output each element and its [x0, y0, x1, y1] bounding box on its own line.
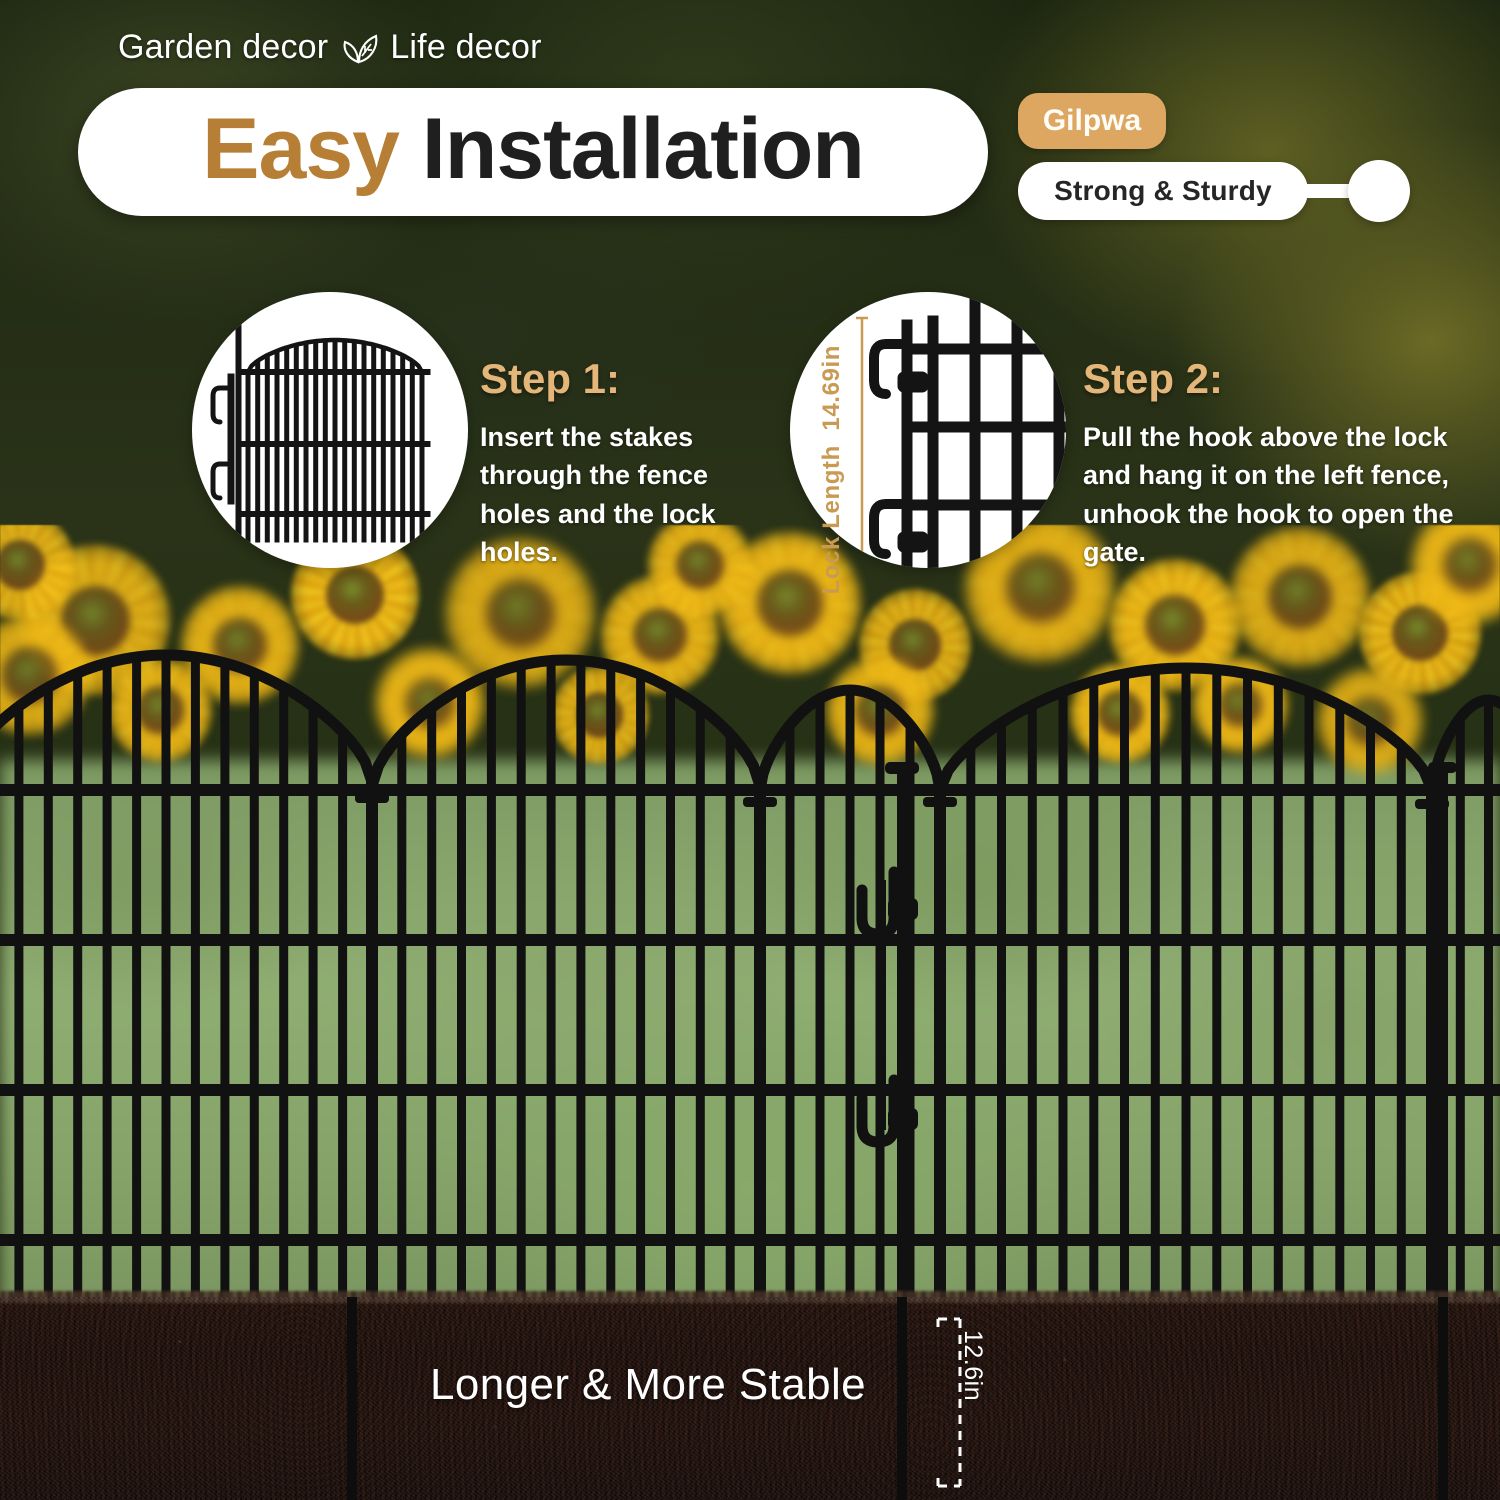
fence-panel-with-stake-icon — [192, 292, 468, 568]
page-title: Easy Installation — [202, 106, 864, 192]
buried-depth-label: 12.6in — [958, 1330, 987, 1401]
sprout-leaf-icon — [338, 31, 380, 65]
main-title-pill: Easy Installation — [78, 88, 988, 216]
lock-length-value: 14.69in — [818, 345, 845, 431]
step-1-diagram — [192, 292, 468, 568]
bottom-caption: Longer & More Stable — [430, 1360, 866, 1410]
step-2-body: Pull the hook above the lock and hang it… — [1083, 418, 1483, 571]
feature-badge: Strong & Sturdy — [1018, 162, 1308, 220]
fence-stake — [897, 1297, 907, 1500]
lock-length-label: Lock Length — [818, 445, 845, 594]
lock-length-dimension: Lock Length 14.69in — [818, 345, 846, 594]
product-infographic: Garden decor Life decor Easy Installatio… — [0, 0, 1500, 1500]
garden-fence-panel-icon — [0, 0, 1500, 1500]
step-1-body: Insert the stakes through the fence hole… — [480, 418, 748, 571]
tagline-life-decor: Life decor — [390, 28, 541, 67]
step-1-heading: Step 1: — [480, 358, 748, 400]
title-rest-word: Installation — [399, 101, 864, 197]
brand-badge: Gilpwa — [1018, 93, 1166, 149]
fence-stake — [347, 1297, 357, 1500]
title-accent-word: Easy — [202, 101, 399, 197]
step-2-text-block: Step 2: Pull the hook above the lock and… — [1083, 358, 1483, 571]
step-1-text-block: Step 1: Insert the stakes through the fe… — [480, 358, 748, 571]
fence-stake — [1438, 1297, 1448, 1500]
brand-tagline: Garden decor Life decor — [118, 28, 542, 67]
fence-illustration — [0, 0, 1500, 1500]
badge-end-knob — [1348, 160, 1410, 222]
tagline-garden-decor: Garden decor — [118, 28, 328, 67]
step-2-heading: Step 2: — [1083, 358, 1483, 400]
